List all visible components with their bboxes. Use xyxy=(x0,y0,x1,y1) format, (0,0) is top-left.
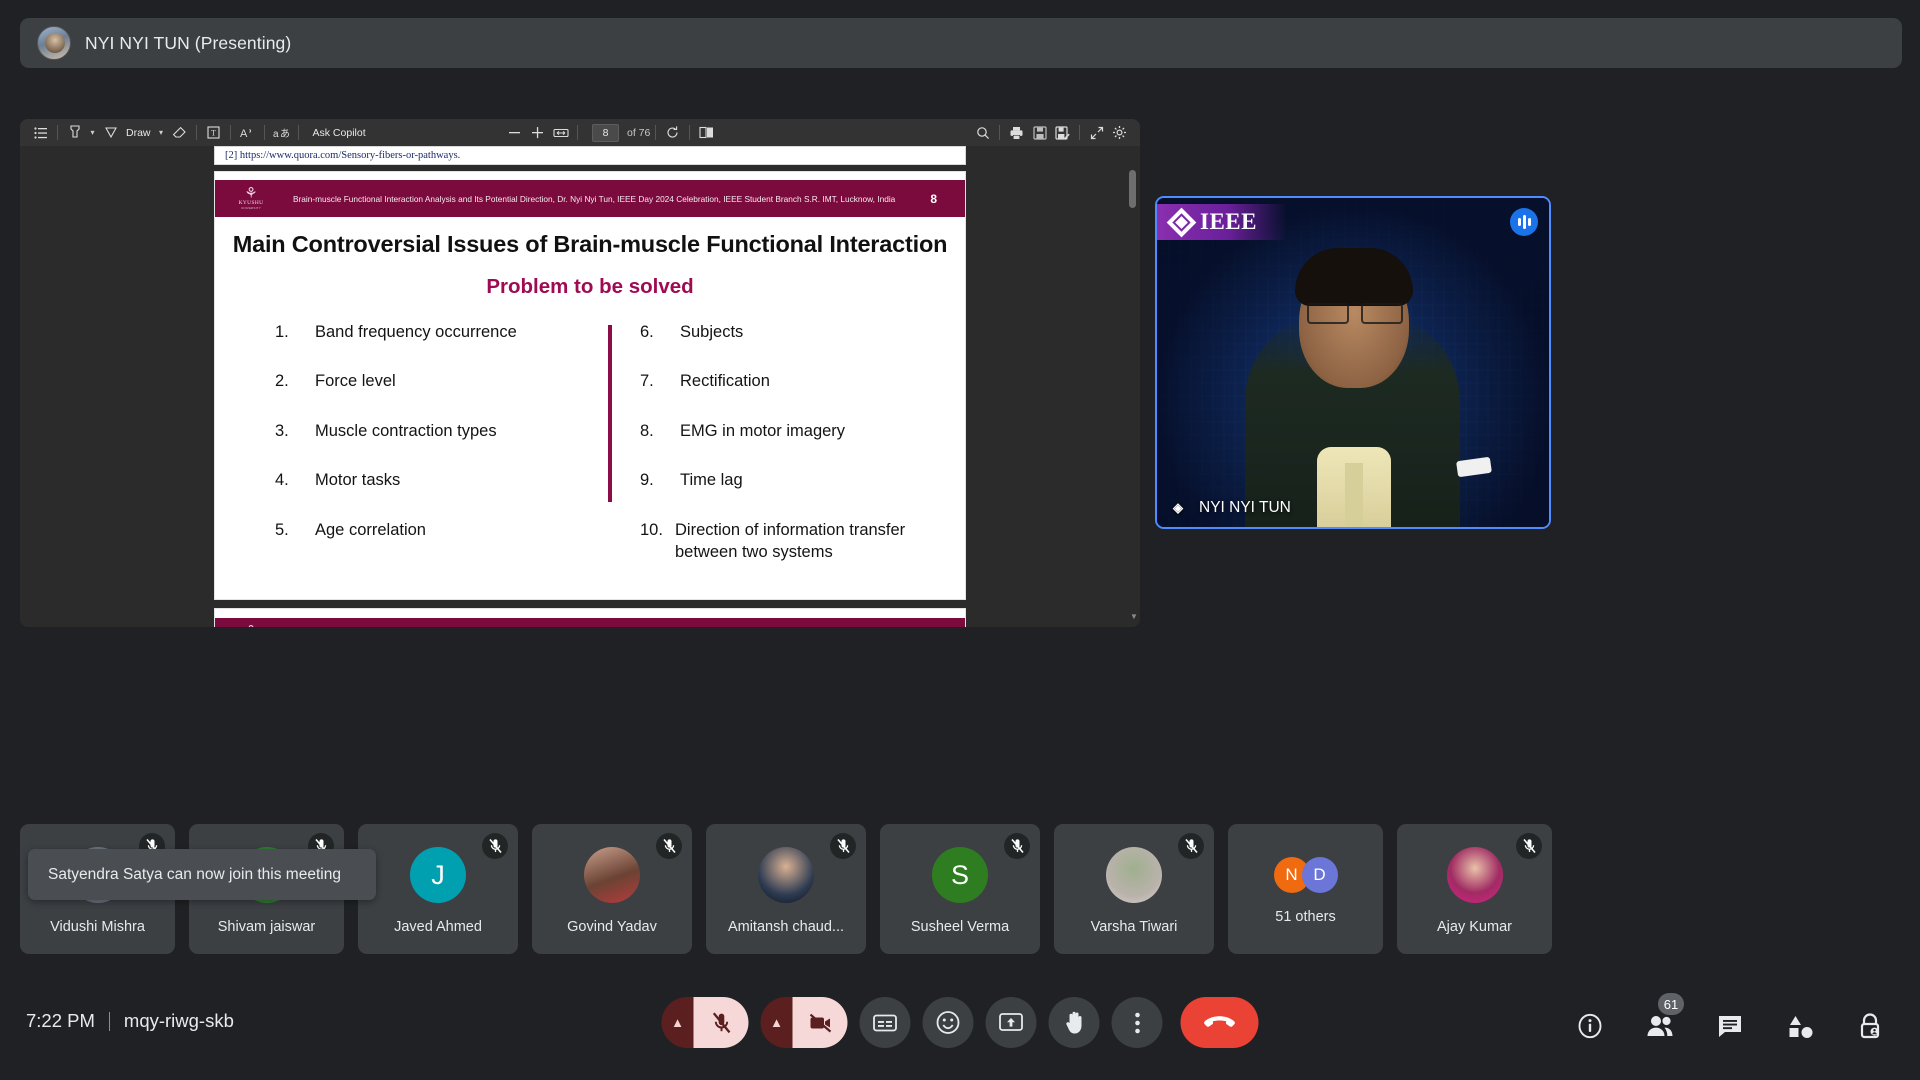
people-button[interactable]: 61 xyxy=(1636,1002,1684,1050)
list-item-number: 9. xyxy=(640,469,680,491)
avatar xyxy=(758,847,814,903)
scroll-down-arrow-icon[interactable]: ▼ xyxy=(1130,612,1138,621)
chevron-up-icon[interactable]: ▲ xyxy=(662,997,694,1048)
notification-toast: Satyendra Satya can now join this meetin… xyxy=(28,849,376,900)
slide-header-text: Brain-muscle Functional Interaction Anal… xyxy=(293,194,930,204)
list-item-text: Motor tasks xyxy=(315,469,590,491)
chat-button[interactable] xyxy=(1706,1002,1754,1050)
list-item-text: Time lag xyxy=(680,469,965,491)
avatar: J xyxy=(410,847,466,903)
highlighter-dropdown-caret-icon[interactable]: ▾ xyxy=(86,128,99,137)
list-item: 3. Muscle contraction types xyxy=(275,420,590,442)
toolbar-divider xyxy=(999,125,1000,140)
meeting-info-left: 7:22 PM mqy-riwg-skb xyxy=(26,1010,234,1032)
microphone-off-icon xyxy=(1178,833,1204,859)
page-total-label: of 76 xyxy=(627,127,650,139)
list-item: 2. Force level xyxy=(275,370,590,392)
next-slide-top-margin xyxy=(215,609,965,618)
slide-title: Main Controversial Issues of Brain-muscl… xyxy=(215,231,965,258)
meeting-right-controls: 61 xyxy=(1566,1002,1894,1050)
toolbar-divider xyxy=(689,125,690,140)
toolbar-divider xyxy=(577,125,578,140)
toolbar-divider xyxy=(1079,125,1080,140)
pdf-toolbar: ▾ Draw ▾ T A aあ Ask Copilot xyxy=(20,119,1140,146)
microphone-off-icon xyxy=(482,833,508,859)
list-item: 6. Subjects xyxy=(640,321,965,343)
toolbar-divider xyxy=(264,125,265,140)
list-item-number: 4. xyxy=(275,469,315,491)
presenter-name: NYI NYI TUN (Presenting) xyxy=(85,33,291,54)
microphone-off-icon[interactable] xyxy=(694,997,749,1048)
toolbar-divider xyxy=(230,125,231,140)
slide-subtitle: Problem to be solved xyxy=(215,275,965,299)
pdf-viewer-panel: ▾ Draw ▾ T A aあ Ask Copilot xyxy=(20,119,1140,627)
list-item: 7. Rectification xyxy=(640,370,965,392)
participant-name: Govind Yadav xyxy=(567,919,657,935)
kyushu-university-logo: ⚘ KYUSHU UNIVERSITY xyxy=(229,625,273,627)
list-item-text: Muscle contraction types xyxy=(315,420,590,442)
microphone-off-icon xyxy=(656,833,682,859)
search-icon[interactable] xyxy=(971,122,994,143)
others-tile[interactable]: N D 51 others xyxy=(1228,824,1383,954)
list-item-number: 6. xyxy=(640,321,680,343)
more-options-button[interactable] xyxy=(1112,997,1163,1048)
microphone-off-icon xyxy=(830,833,856,859)
video-tile-footer: ◈ NYI NYI TUN xyxy=(1157,497,1291,519)
page-number-input[interactable]: 8 xyxy=(592,124,619,142)
participant-name: Vidushi Mishra xyxy=(50,919,145,935)
list-item-number: 2. xyxy=(275,370,315,392)
speaker-glasses xyxy=(1307,303,1403,320)
text-box-icon[interactable]: T xyxy=(202,122,225,143)
slide-header-band: ⚘ KYUSHU UNIVERSITY Brain-muscle Functio… xyxy=(215,180,965,217)
presenter-avatar xyxy=(37,26,71,60)
people-count-badge: 61 xyxy=(1658,993,1684,1015)
previous-page-fragment: [2] https://www.quora.com/Sensory-fibers… xyxy=(214,146,966,165)
meeting-controls: ▲ ▲ xyxy=(662,997,1259,1048)
highlighter-icon[interactable] xyxy=(63,122,86,143)
participant-name: Amitansh chaud... xyxy=(728,919,844,935)
present-screen-button[interactable] xyxy=(986,997,1037,1048)
toc-icon[interactable] xyxy=(29,122,52,143)
participant-tile[interactable]: J Javed Ahmed xyxy=(358,824,518,954)
draw-dropdown-caret-icon[interactable]: ▾ xyxy=(155,128,168,137)
avatar xyxy=(1106,847,1162,903)
camera-control[interactable]: ▲ xyxy=(761,997,848,1048)
microphone-off-icon xyxy=(1004,833,1030,859)
translate-icon[interactable]: aあ xyxy=(270,122,293,143)
ieee-diamond-icon xyxy=(1167,207,1197,237)
meeting-info-button[interactable] xyxy=(1566,1002,1614,1050)
list-item: 5. Age correlation xyxy=(275,519,590,541)
participant-tile[interactable]: S Susheel Verma xyxy=(880,824,1040,954)
avatar xyxy=(1447,847,1503,903)
svg-text:A: A xyxy=(240,128,248,140)
video-tile-name: NYI NYI TUN xyxy=(1199,499,1291,517)
captions-button[interactable] xyxy=(860,997,911,1048)
svg-text:あ: あ xyxy=(280,128,290,139)
zoom-out-icon[interactable] xyxy=(503,122,526,143)
svg-text:a: a xyxy=(273,129,279,139)
audio-level-icon xyxy=(1510,208,1538,236)
list-item-text: Direction of information transfer betwee… xyxy=(675,519,965,564)
ask-copilot-button[interactable]: Ask Copilot xyxy=(313,127,366,139)
ieee-brand-text: IEEE xyxy=(1200,209,1257,235)
others-avatars: N D xyxy=(1274,857,1338,893)
toolbar-divider xyxy=(298,125,299,140)
slide-content-columns: 1. Band frequency occurrence 2. Force le… xyxy=(215,321,965,591)
next-slide-fragment: ⚘ KYUSHU UNIVERSITY Brain-muscle Functio… xyxy=(214,608,966,627)
participant-tile[interactable]: Amitansh chaud... xyxy=(706,824,866,954)
slide-right-column: 6. Subjects 7. Rectification 8. EMG in m… xyxy=(590,321,965,591)
list-item-text: Subjects xyxy=(680,321,965,343)
participant-tile[interactable]: Ajay Kumar xyxy=(1397,824,1552,954)
others-count-label: 51 others xyxy=(1275,909,1335,925)
speaker-tie xyxy=(1345,463,1363,527)
participant-name: Ajay Kumar xyxy=(1437,919,1512,935)
pdf-scroll-area[interactable]: [2] https://www.quora.com/Sensory-fibers… xyxy=(20,146,1140,627)
toolbar-divider xyxy=(196,125,197,140)
microphone-off-icon xyxy=(1516,833,1542,859)
pdf-page-controls: 8 of 76 xyxy=(503,122,718,143)
list-item-number: 3. xyxy=(275,420,315,442)
slide-left-column: 1. Band frequency occurrence 2. Force le… xyxy=(215,321,590,591)
fullscreen-icon[interactable] xyxy=(1085,122,1108,143)
raise-hand-button[interactable] xyxy=(1049,997,1100,1048)
avatar xyxy=(584,847,640,903)
list-item: 9. Time lag xyxy=(640,469,965,491)
clock-label: 7:22 PM xyxy=(26,1010,95,1032)
kyushu-logo-subtitle: UNIVERSITY xyxy=(241,206,261,210)
microphone-control[interactable]: ▲ xyxy=(662,997,749,1048)
presenter-banner: NYI NYI TUN (Presenting) xyxy=(20,18,1902,68)
print-icon[interactable] xyxy=(1005,122,1028,143)
save-as-icon[interactable] xyxy=(1051,122,1074,143)
save-icon[interactable] xyxy=(1028,122,1051,143)
fit-to-width-icon[interactable] xyxy=(549,122,572,143)
toolbar-divider xyxy=(655,125,656,140)
ieee-brand-badge: IEEE xyxy=(1157,204,1287,240)
list-item-number: 10. xyxy=(640,519,675,564)
kyushu-crest-icon: ⚘ xyxy=(244,625,257,627)
pdf-toolbar-right-tools xyxy=(971,122,1131,143)
list-item: 4. Motor tasks xyxy=(275,469,590,491)
chevron-up-icon[interactable]: ▲ xyxy=(761,997,793,1048)
participant-name: Varsha Tiwari xyxy=(1091,919,1178,935)
end-call-button[interactable] xyxy=(1181,997,1259,1048)
participant-name: Shivam jaiswar xyxy=(218,919,316,935)
kyushu-crest-icon: ⚘ xyxy=(244,187,257,200)
list-item: 1. Band frequency occurrence xyxy=(275,321,590,343)
draw-label[interactable]: Draw xyxy=(122,127,155,139)
current-slide: ⚘ KYUSHU UNIVERSITY Brain-muscle Functio… xyxy=(214,171,966,600)
zoom-in-icon[interactable] xyxy=(526,122,549,143)
speaker-hair xyxy=(1295,248,1413,306)
settings-gear-icon[interactable] xyxy=(1108,122,1131,143)
list-item-text: Age correlation xyxy=(315,519,590,541)
list-item-text: Band frequency occurrence xyxy=(315,321,590,343)
list-item-number: 7. xyxy=(640,370,680,392)
list-item-number: 8. xyxy=(640,420,680,442)
list-item-text: Force level xyxy=(315,370,590,392)
list-item-text: EMG in motor imagery xyxy=(680,420,965,442)
ieee-logo-icon: ◈ xyxy=(1167,497,1189,519)
eraser-icon[interactable] xyxy=(168,122,191,143)
participant-tile[interactable]: Govind Yadav xyxy=(532,824,692,954)
next-slide-header-band: ⚘ KYUSHU UNIVERSITY Brain-muscle Functio… xyxy=(215,618,965,627)
meeting-bottom-bar: 7:22 PM mqy-riwg-skb ▲ ▲ xyxy=(0,980,1920,1080)
host-controls-button[interactable] xyxy=(1846,1002,1894,1050)
slide-top-margin xyxy=(215,172,965,180)
list-item-number: 5. xyxy=(275,519,315,541)
two-page-layout-icon[interactable] xyxy=(695,122,718,143)
divider xyxy=(109,1012,110,1031)
meeting-code-label: mqy-riwg-skb xyxy=(124,1010,234,1032)
list-item-text: Rectification xyxy=(680,370,965,392)
list-item-number: 1. xyxy=(275,321,315,343)
speaker-video-tile[interactable]: IEEE ◈ NYI NYI TUN xyxy=(1155,196,1551,529)
camera-off-icon[interactable] xyxy=(793,997,848,1048)
pdf-scrollbar-thumb[interactable] xyxy=(1129,170,1136,208)
list-item: 8. EMG in motor imagery xyxy=(640,420,965,442)
list-item: 10. Direction of information transfer be… xyxy=(640,519,965,564)
participant-tile[interactable]: Varsha Tiwari xyxy=(1054,824,1214,954)
rotate-icon[interactable] xyxy=(661,122,684,143)
participant-name: Javed Ahmed xyxy=(394,919,482,935)
avatar: D xyxy=(1302,857,1338,893)
toolbar-divider xyxy=(57,125,58,140)
column-divider xyxy=(608,325,612,502)
reference-link-text: [2] https://www.quora.com/Sensory-fibers… xyxy=(225,150,460,161)
read-aloud-icon[interactable]: A xyxy=(236,122,259,143)
slide-page-number: 8 xyxy=(930,192,937,206)
participant-name: Susheel Verma xyxy=(911,919,1009,935)
activities-button[interactable] xyxy=(1776,1002,1824,1050)
pdf-vertical-scrollbar[interactable]: ▼ xyxy=(1127,146,1138,627)
avatar: S xyxy=(932,847,988,903)
draw-pen-icon[interactable] xyxy=(99,122,122,143)
kyushu-university-logo: ⚘ KYUSHU UNIVERSITY xyxy=(229,187,273,210)
reactions-button[interactable] xyxy=(923,997,974,1048)
svg-text:T: T xyxy=(211,129,216,138)
